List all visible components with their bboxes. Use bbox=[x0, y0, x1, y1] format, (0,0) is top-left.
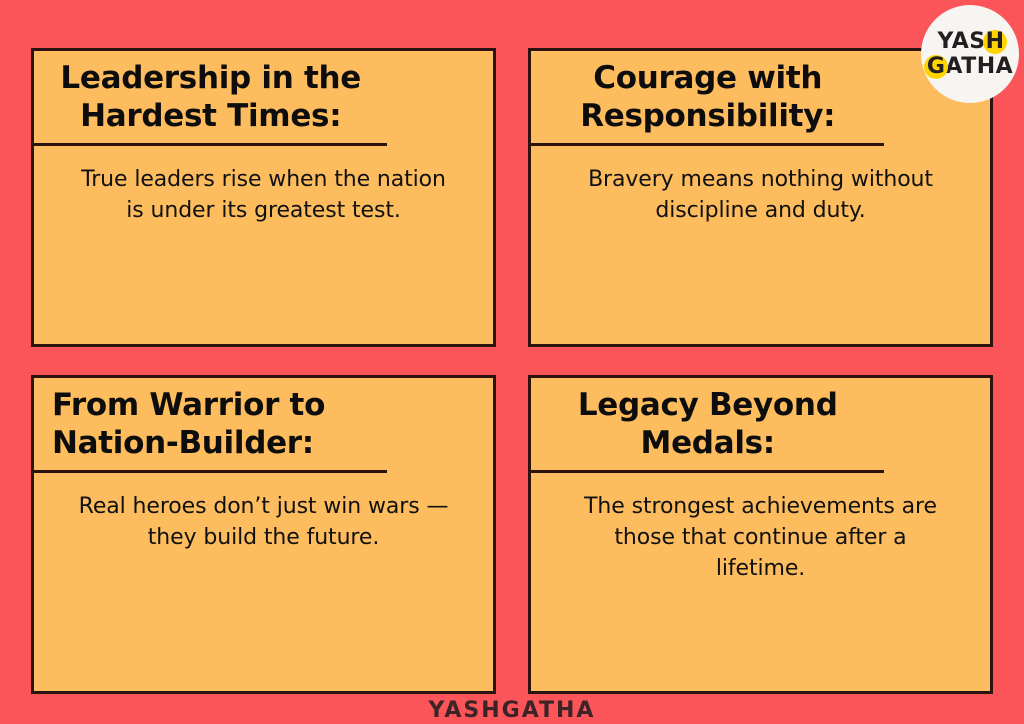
logo-text-h: H bbox=[986, 29, 1005, 54]
card-body-warrior: Real heroes don’t just win wars — they b… bbox=[34, 473, 493, 691]
card-body-leadership: True leaders rise when the nation is und… bbox=[34, 146, 493, 344]
poster-canvas: YASH GATHA Leadership in the Hardest Tim… bbox=[0, 0, 1024, 724]
logo-text-yas: YAS bbox=[937, 29, 985, 54]
logo-highlight-g: G bbox=[927, 56, 946, 78]
logo-line-bottom: GATHA bbox=[927, 56, 1013, 78]
yashgatha-logo[interactable]: YASH GATHA bbox=[921, 5, 1019, 103]
footer-watermark: YASHGATHA bbox=[0, 698, 1024, 723]
card-title-leadership: Leadership in the Hardest Times: bbox=[34, 51, 387, 146]
quote-card-leadership[interactable]: Leadership in the Hardest Times: True le… bbox=[31, 48, 496, 347]
quote-card-warrior[interactable]: From Warrior to Nation-Builder: Real her… bbox=[31, 375, 496, 694]
card-title-legacy: Legacy Beyond Medals: bbox=[531, 378, 884, 473]
logo-highlight-h: H bbox=[986, 31, 1005, 53]
quote-card-legacy[interactable]: Legacy Beyond Medals: The strongest achi… bbox=[528, 375, 993, 694]
quote-card-courage[interactable]: Courage with Responsibility: Bravery mea… bbox=[528, 48, 993, 347]
card-body-courage: Bravery means nothing without discipline… bbox=[531, 146, 990, 344]
quote-card-grid: Leadership in the Hardest Times: True le… bbox=[31, 48, 993, 694]
card-body-legacy: The strongest achievements are those tha… bbox=[531, 473, 990, 691]
logo-line-top: YASH bbox=[935, 31, 1004, 53]
logo-text-atha: ATHA bbox=[945, 54, 1013, 79]
card-title-warrior: From Warrior to Nation-Builder: bbox=[34, 378, 387, 473]
card-title-courage: Courage with Responsibility: bbox=[531, 51, 884, 146]
logo-text-g: G bbox=[927, 54, 946, 79]
